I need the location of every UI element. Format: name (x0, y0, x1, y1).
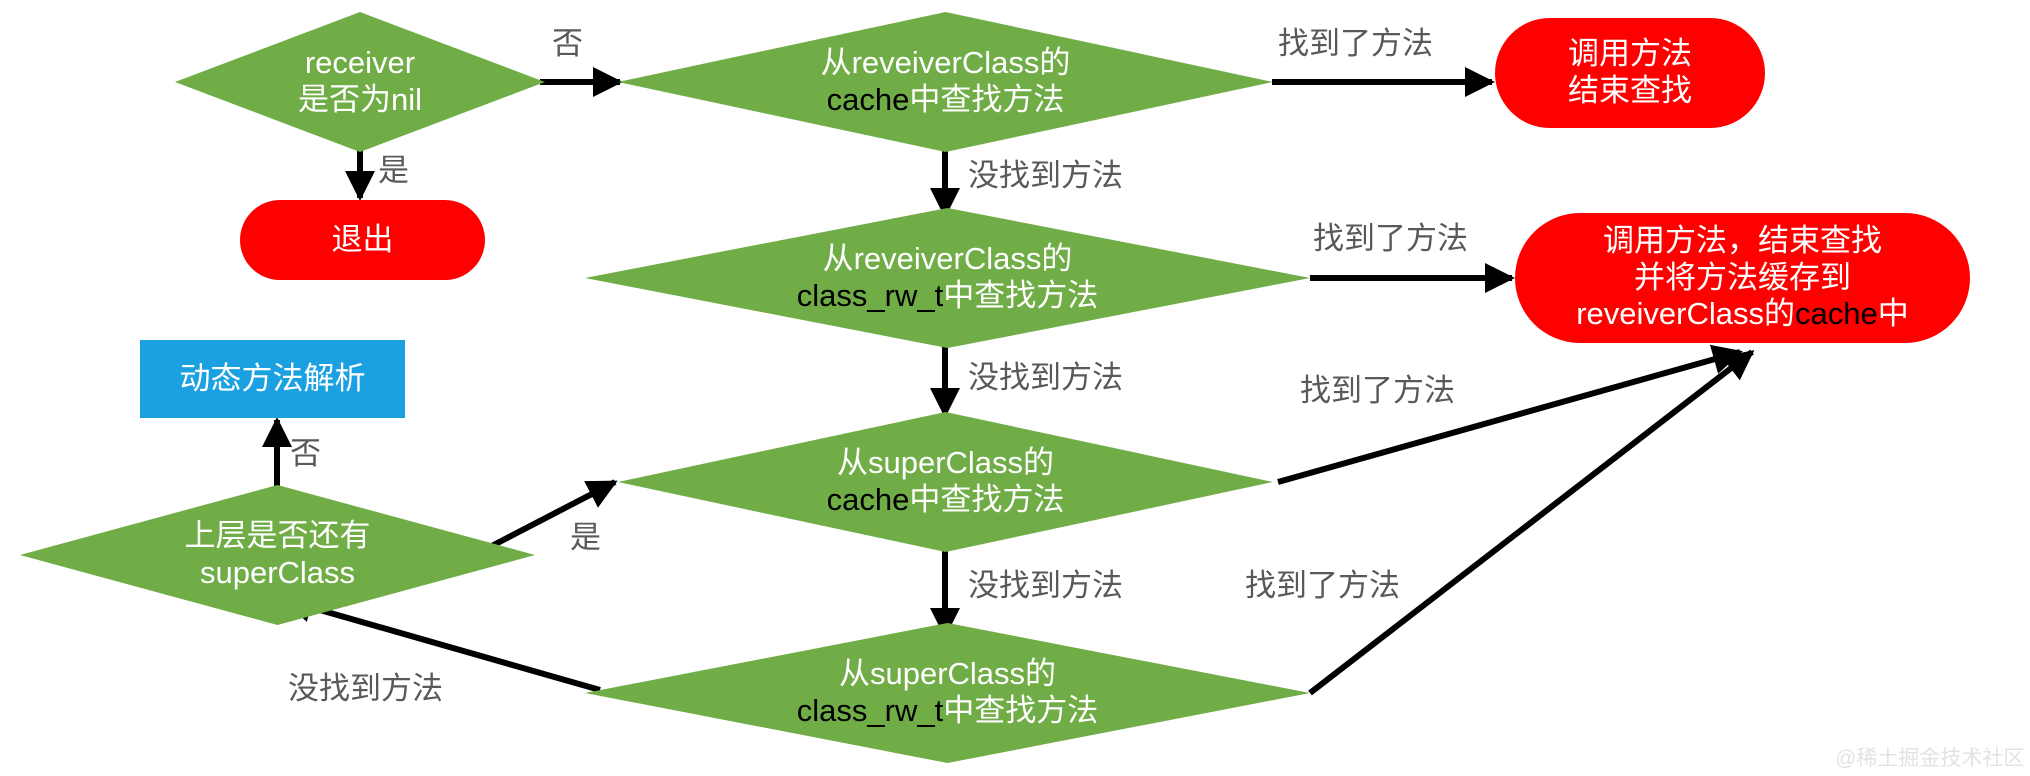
node-call-end-label: 调用方法 结束查找 (1495, 36, 1765, 109)
node-exit-label: 退出 (240, 222, 485, 259)
edge-label-notfound-3: 没找到方法 (968, 560, 1123, 605)
node-super-cache[interactable]: 从superClass的 cache中查找方法 (618, 412, 1273, 552)
edge-label-found-2: 找到了方法 (1313, 213, 1468, 258)
node-call-end-cache-label: 调用方法，结束查找 并将方法缓存到 reveiverClass的cache中 (1515, 223, 1970, 333)
node-receiver-rwt[interactable]: 从reveiverClass的 class_rw_t中查找方法 (585, 208, 1310, 348)
node-receiver-rwt-label: 从reveiverClass的 class_rw_t中查找方法 (585, 241, 1310, 314)
node-receiver-cache[interactable]: 从reveiverClass的 cache中查找方法 (618, 12, 1273, 152)
node-super-rwt[interactable]: 从superClass的 class_rw_t中查找方法 (585, 623, 1310, 763)
node-call-end[interactable]: 调用方法 结束查找 (1495, 18, 1765, 128)
edge-label-no-dynamic: 否 (290, 428, 321, 473)
node-has-superclass[interactable]: 上层是否还有 superClass (20, 485, 535, 625)
flowchart-canvas: receiver 是否为nil 退出 从reveiverClass的 cache… (0, 0, 2030, 776)
edge-label-no-top: 否 (552, 18, 583, 63)
edge-label-notfound-4: 没找到方法 (288, 663, 443, 708)
edge-label-notfound-2: 没找到方法 (968, 352, 1123, 397)
edge-label-found-3: 找到了方法 (1300, 365, 1455, 410)
node-has-superclass-label: 上层是否还有 superClass (20, 518, 535, 591)
node-receiver-nil-label: receiver 是否为nil (175, 45, 545, 118)
node-super-cache-label: 从superClass的 cache中查找方法 (618, 445, 1273, 518)
edge-label-found-1: 找到了方法 (1278, 18, 1433, 63)
node-receiver-nil[interactable]: receiver 是否为nil (175, 12, 545, 152)
node-receiver-cache-label: 从reveiverClass的 cache中查找方法 (618, 45, 1273, 118)
edge-label-yes-exit: 是 (378, 145, 409, 190)
edge-label-yes-super: 是 (570, 512, 601, 557)
edge-label-notfound-1: 没找到方法 (968, 150, 1123, 195)
edge-label-found-4: 找到了方法 (1245, 560, 1400, 605)
node-exit[interactable]: 退出 (240, 200, 485, 280)
node-super-rwt-label: 从superClass的 class_rw_t中查找方法 (585, 656, 1310, 729)
watermark: @稀土掘金技术社区 (1835, 742, 2024, 772)
node-dynamic-resolve-label: 动态方法解析 (140, 361, 405, 398)
node-call-end-cache[interactable]: 调用方法，结束查找 并将方法缓存到 reveiverClass的cache中 (1515, 213, 1970, 343)
node-dynamic-resolve[interactable]: 动态方法解析 (140, 340, 405, 418)
